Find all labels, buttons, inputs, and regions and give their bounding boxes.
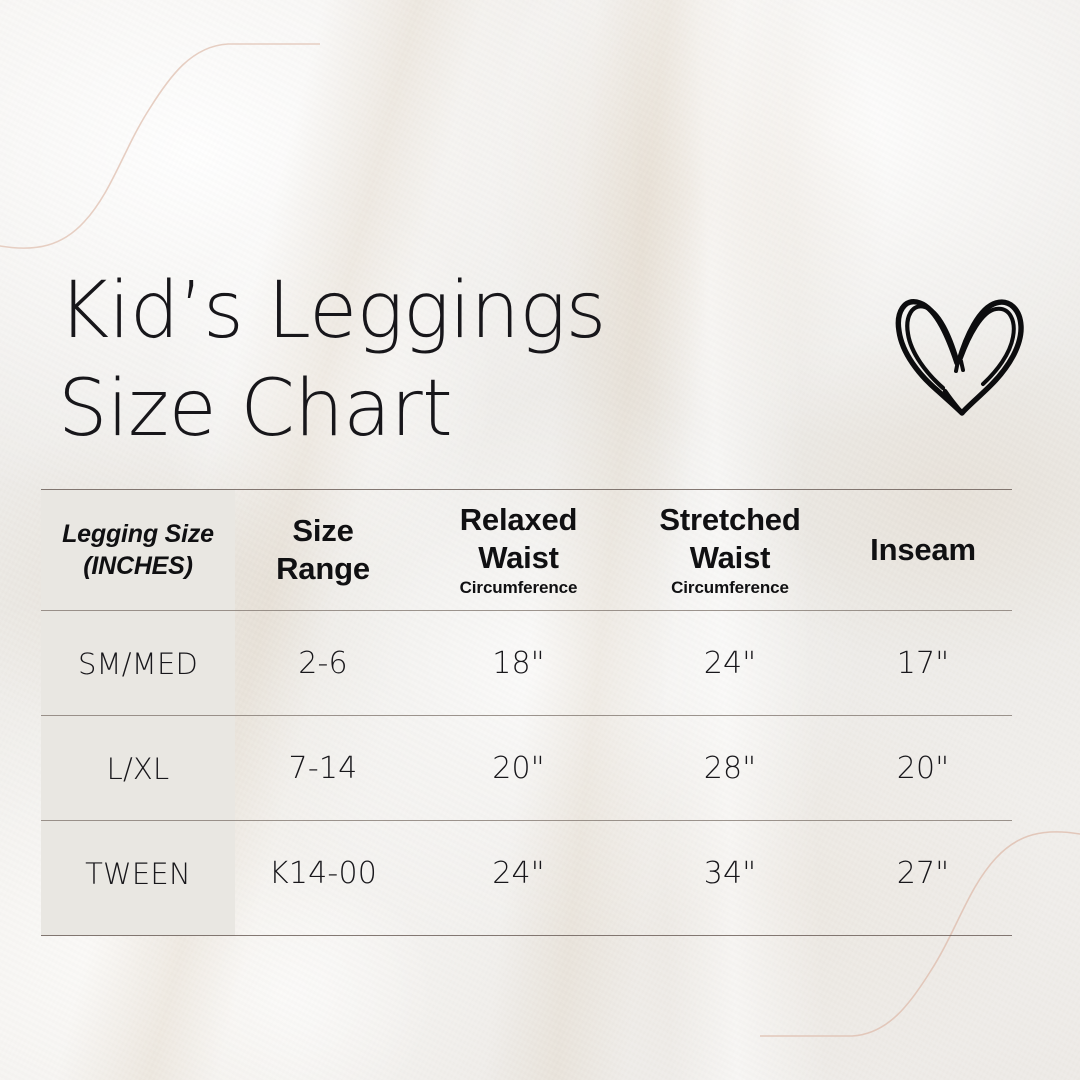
cell-stretched-waist-value: 28" bbox=[704, 751, 757, 787]
cell-inseam: 17" bbox=[834, 646, 1012, 682]
cell-size: L/XL bbox=[41, 751, 235, 787]
cell-stretched-waist: 28" bbox=[626, 751, 834, 787]
column-header-stretched-waist: Stretched Waist Circumference bbox=[626, 501, 834, 599]
cell-range: 2-6 bbox=[235, 646, 411, 682]
column-header-legging-size-sub: (INCHES) bbox=[83, 550, 193, 582]
cell-size-value: TWEEN bbox=[85, 856, 191, 892]
page-title-line-2: Size Chart bbox=[58, 360, 718, 458]
column-header-size-range-line-2: Range bbox=[276, 550, 370, 588]
cell-relaxed-waist-value: 20" bbox=[492, 751, 545, 787]
cell-size: SM/MED bbox=[41, 646, 235, 682]
cell-relaxed-waist: 20" bbox=[411, 751, 626, 787]
cell-size: TWEEN bbox=[41, 856, 235, 892]
cell-relaxed-waist-value: 18" bbox=[492, 646, 545, 682]
cell-inseam-value: 20" bbox=[897, 751, 950, 787]
cell-range-value: 7-14 bbox=[289, 751, 358, 787]
column-header-relaxed-waist: Relaxed Waist Circumference bbox=[411, 501, 626, 599]
table-header-row: Legging Size (INCHES) Size Range Relaxed… bbox=[41, 490, 1012, 610]
cell-inseam-value: 17" bbox=[897, 646, 950, 682]
heart-doodle-icon bbox=[893, 281, 1027, 417]
table-row: L/XL 7-14 20" 28" 20" bbox=[41, 716, 1012, 821]
cell-size-value: SM/MED bbox=[78, 646, 198, 682]
cell-relaxed-waist: 18" bbox=[411, 646, 626, 682]
cell-range-value: K14-00 bbox=[269, 856, 377, 892]
column-header-inseam-line-1: Inseam bbox=[870, 531, 976, 569]
cell-size-value: L/XL bbox=[107, 751, 170, 787]
cell-relaxed-waist: 24" bbox=[411, 856, 626, 892]
column-header-stretched-waist-line-2: Waist bbox=[690, 539, 771, 577]
cell-stretched-waist-value: 34" bbox=[704, 856, 757, 892]
cell-range-value: 2-6 bbox=[298, 646, 348, 682]
cell-range: K14-00 bbox=[235, 856, 411, 892]
table-row: TWEEN K14-00 24" 34" 27" bbox=[41, 821, 1012, 926]
cell-inseam-value: 27" bbox=[897, 856, 950, 892]
column-header-relaxed-waist-line-1: Relaxed bbox=[460, 501, 578, 539]
poster-canvas: Kid’s Leggings Size Chart Legging bbox=[0, 0, 1080, 1080]
cell-stretched-waist-value: 24" bbox=[704, 646, 757, 682]
column-header-relaxed-waist-sub: Circumference bbox=[460, 577, 578, 599]
cell-stretched-waist: 24" bbox=[626, 646, 834, 682]
column-header-size-range: Size Range bbox=[235, 512, 411, 588]
column-header-size-range-line-1: Size bbox=[292, 512, 353, 550]
column-header-relaxed-waist-line-2: Waist bbox=[478, 539, 559, 577]
column-header-inseam: Inseam bbox=[834, 531, 1012, 569]
table-row: SM/MED 2-6 18" 24" 17" bbox=[41, 611, 1012, 716]
cell-range: 7-14 bbox=[235, 751, 411, 787]
column-header-legging-size: Legging Size (INCHES) bbox=[41, 518, 235, 582]
column-header-stretched-waist-sub: Circumference bbox=[671, 577, 789, 599]
cell-relaxed-waist-value: 24" bbox=[492, 856, 545, 892]
cell-inseam: 27" bbox=[834, 856, 1012, 892]
column-header-legging-size-main: Legging Size bbox=[62, 518, 214, 550]
table-rule-bottom bbox=[41, 935, 1012, 936]
cell-inseam: 20" bbox=[834, 751, 1012, 787]
page-title: Kid’s Leggings Size Chart bbox=[58, 262, 718, 458]
cell-stretched-waist: 34" bbox=[626, 856, 834, 892]
corner-swoosh-line-top-left bbox=[0, 0, 320, 260]
column-header-stretched-waist-line-1: Stretched bbox=[659, 501, 800, 539]
size-chart-table: Legging Size (INCHES) Size Range Relaxed… bbox=[41, 489, 1012, 936]
page-title-line-1: Kid’s Leggings bbox=[58, 262, 718, 360]
